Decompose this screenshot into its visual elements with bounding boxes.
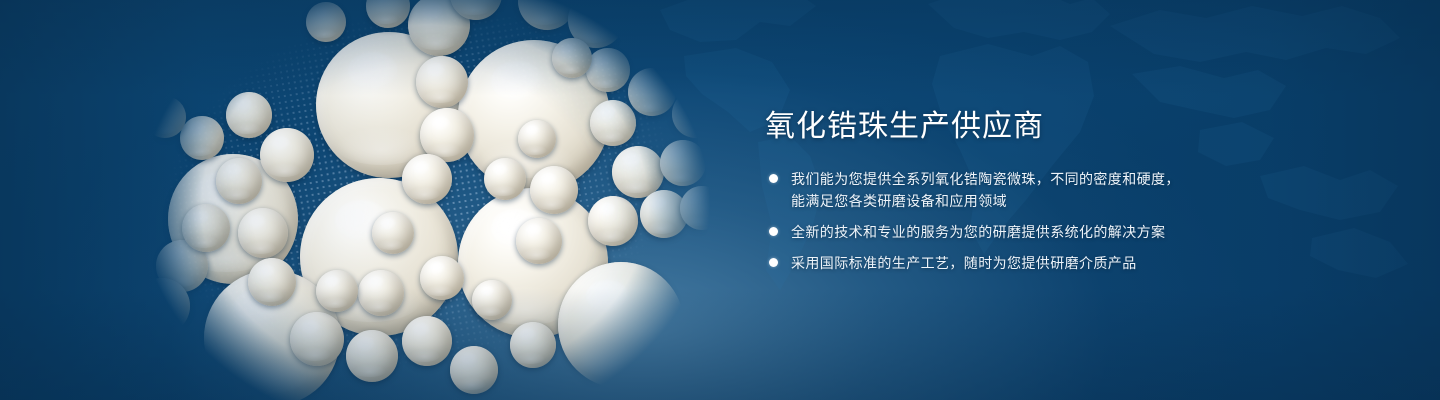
hero-banner: 氧化锆珠生产供应商 我们能为您提供全系列氧化锆陶瓷微珠，不同的密度和硬度， 能满… (0, 0, 1440, 400)
list-item-text: 我们能为您提供全系列氧化锆陶瓷微珠，不同的密度和硬度， 能满足您各类研磨设备和应… (791, 168, 1405, 212)
bullet-dot-icon (769, 174, 778, 183)
list-item-text: 全新的技术和专业的服务为您的研磨提供系统化的解决方案 (791, 221, 1405, 243)
page-title: 氧化锆珠生产供应商 (765, 108, 1405, 146)
list-item: 我们能为您提供全系列氧化锆陶瓷微珠，不同的密度和硬度， 能满足您各类研磨设备和应… (765, 168, 1405, 212)
list-item: 采用国际标准的生产工艺，随时为您提供研磨介质产品 (765, 252, 1405, 274)
list-item: 全新的技术和专业的服务为您的研磨提供系统化的解决方案 (765, 221, 1405, 243)
bullet-dot-icon (769, 227, 778, 236)
feature-list: 我们能为您提供全系列氧化锆陶瓷微珠，不同的密度和硬度， 能满足您各类研磨设备和应… (765, 168, 1405, 274)
list-item-text: 采用国际标准的生产工艺，随时为您提供研磨介质产品 (791, 252, 1405, 274)
banner-copy: 氧化锆珠生产供应商 我们能为您提供全系列氧化锆陶瓷微珠，不同的密度和硬度， 能满… (765, 108, 1405, 283)
bullet-dot-icon (769, 258, 778, 267)
